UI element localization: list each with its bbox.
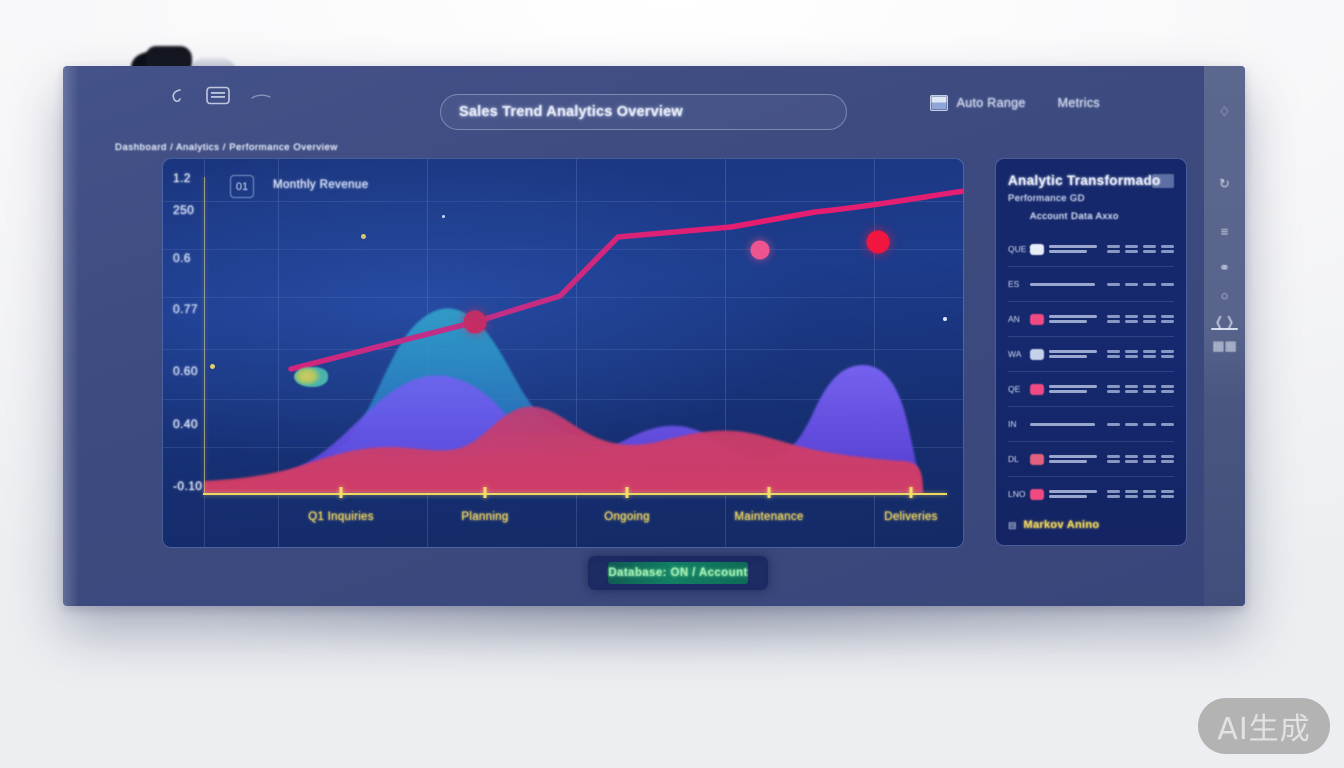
- toolbar-item-metrics[interactable]: Metrics: [1058, 94, 1100, 112]
- chart-gridlines: [163, 159, 963, 547]
- chart-panel: 01 Monthly Revenue 1.2 250 0.6 0.77 0.60…: [162, 158, 964, 548]
- side-panel-title: Analytic Transformado: [1008, 173, 1174, 188]
- y-tick-4: 0.60: [173, 364, 198, 378]
- row-cell: [1143, 455, 1156, 463]
- row-lead: AN: [1008, 314, 1025, 324]
- row-cell: [1161, 315, 1174, 323]
- status-cap-left: [591, 562, 605, 584]
- data-speck-3: [943, 317, 947, 321]
- breadcrumb: Dashboard / Analytics / Performance Over…: [115, 142, 338, 153]
- x-tick-label-2: Ongoing: [604, 511, 650, 523]
- row-cell: [1107, 455, 1120, 463]
- chart-y-axis: [204, 177, 205, 493]
- series-label: Monthly Revenue: [273, 179, 369, 191]
- row-bars: [1030, 423, 1102, 426]
- row-cell: [1107, 283, 1120, 286]
- side-panel-footer[interactable]: ▤ Markov Anino: [1008, 519, 1174, 531]
- y-tick-6: -0.10: [173, 479, 202, 493]
- data-speck-4: [442, 215, 445, 218]
- data-speck-1: [361, 234, 366, 239]
- ai-watermark: AI生成: [1198, 698, 1330, 754]
- filter-icon[interactable]: ≡: [1204, 224, 1245, 239]
- x-tick-label-0: Q1 Inquiries: [308, 511, 374, 523]
- more-options-icon[interactable]: [250, 89, 272, 107]
- dashboard-window: Sales Trend Analytics Overview Auto Rang…: [63, 66, 1245, 606]
- toolbar-item-metrics-label: Metrics: [1058, 96, 1100, 110]
- row-bars: [1049, 490, 1102, 498]
- x-tick-label-4: Deliveries: [884, 511, 938, 523]
- side-panel-footer-label: Markov Anino: [1024, 519, 1100, 531]
- refresh-icon[interactable]: ↻: [1204, 176, 1245, 192]
- list-view-icon[interactable]: [206, 86, 230, 110]
- row-lead: IN: [1008, 419, 1025, 429]
- row-swatch: [1030, 244, 1044, 255]
- top-toolbar: Sales Trend Analytics Overview Auto Rang…: [63, 66, 1245, 134]
- row-bars: [1049, 350, 1102, 358]
- chart-icon: ▤: [1008, 520, 1017, 531]
- toolbar-item-auto-range-label: Auto Range: [957, 96, 1026, 110]
- droplet-icon[interactable]: ♢: [1204, 104, 1245, 120]
- toolbar-left-icons: [168, 86, 272, 110]
- toolbar-right-items: Auto Range Metrics: [930, 94, 1100, 112]
- clock-icon[interactable]: ○: [1204, 288, 1245, 303]
- search-input-value: Sales Trend Analytics Overview: [459, 104, 683, 120]
- table-grid-icon: [930, 95, 948, 111]
- table-row[interactable]: QUE 1: [1008, 232, 1174, 267]
- row-cell: [1125, 423, 1138, 426]
- table-row[interactable]: LNO: [1008, 477, 1174, 511]
- back-arrow-icon[interactable]: [168, 87, 186, 110]
- row-cell: [1107, 490, 1120, 498]
- row-bars: [1030, 283, 1102, 286]
- row-lead: QUE 1: [1008, 244, 1025, 254]
- link-icon[interactable]: ⚭: [1204, 260, 1245, 276]
- peak-marker-3[interactable]: [867, 231, 890, 254]
- row-cell: [1161, 385, 1174, 393]
- row-swatch: [1030, 349, 1044, 360]
- row-lead: WA: [1008, 349, 1025, 359]
- row-bars: [1049, 245, 1102, 253]
- status-indicator[interactable]: Database: ON / Account: [608, 562, 748, 584]
- row-swatch: [1030, 454, 1044, 465]
- row-cell: [1125, 315, 1138, 323]
- data-speck-2: [210, 364, 215, 369]
- sprite-marker: [294, 367, 328, 387]
- row-cell: [1143, 423, 1156, 426]
- row-cell: [1125, 490, 1138, 498]
- row-cell: [1125, 385, 1138, 393]
- row-bars: [1049, 385, 1102, 393]
- y-tick-0: 1.2: [173, 171, 191, 185]
- row-cell: [1143, 245, 1156, 253]
- peak-marker-1[interactable]: [464, 311, 487, 334]
- y-tick-5: 0.40: [173, 417, 198, 431]
- toolbar-item-auto-range[interactable]: Auto Range: [930, 95, 1026, 111]
- row-cell: [1143, 490, 1156, 498]
- side-panel-rows: QUE 1 ES AN: [1008, 232, 1174, 511]
- x-tick-label-1: Planning: [461, 511, 508, 523]
- row-lead: DL: [1008, 454, 1025, 464]
- y-tick-2: 0.6: [173, 251, 191, 265]
- search-input[interactable]: Sales Trend Analytics Overview: [440, 94, 847, 130]
- status-text: Database: ON / Account: [608, 567, 747, 579]
- side-data-panel: Analytic Transformado Performance GD Acc…: [995, 158, 1187, 546]
- row-swatch: [1030, 489, 1044, 500]
- row-lead: LNO: [1008, 489, 1025, 499]
- row-cell: [1107, 245, 1120, 253]
- chart-plot: [163, 159, 963, 547]
- table-row[interactable]: DL: [1008, 442, 1174, 477]
- table-row[interactable]: ES: [1008, 267, 1174, 302]
- row-cell: [1161, 490, 1174, 498]
- row-cell: [1107, 385, 1120, 393]
- row-cell: [1161, 283, 1174, 286]
- row-swatch: [1030, 384, 1044, 395]
- table-row[interactable]: IN: [1008, 407, 1174, 442]
- table-row[interactable]: WA: [1008, 337, 1174, 372]
- row-cell: [1125, 350, 1138, 358]
- row-cell: [1143, 283, 1156, 286]
- peak-marker-2[interactable]: [751, 241, 770, 260]
- side-panel-subtitle: Performance GD: [1008, 193, 1174, 204]
- status-bar: Database: ON / Account: [588, 556, 768, 590]
- ai-watermark-text: AI生成: [1217, 704, 1310, 748]
- chart-x-axis: [203, 493, 947, 495]
- row-cell: [1161, 455, 1174, 463]
- row-lead: QE: [1008, 384, 1025, 394]
- row-cell: [1143, 385, 1156, 393]
- y-tick-3: 0.77: [173, 302, 198, 316]
- row-cell: [1125, 283, 1138, 286]
- series-badge: 01: [230, 175, 254, 198]
- x-tick-label-3: Maintenance: [734, 511, 803, 523]
- row-swatch: [1030, 314, 1044, 325]
- row-cell: [1143, 350, 1156, 358]
- row-cell: [1143, 315, 1156, 323]
- row-cell: [1107, 315, 1120, 323]
- side-panel-subtitle-2: Account Data Axxo: [1030, 211, 1174, 222]
- row-cell: [1161, 245, 1174, 253]
- y-tick-1: 250: [173, 203, 194, 217]
- row-cell: [1107, 350, 1120, 358]
- table-row[interactable]: QE: [1008, 372, 1174, 407]
- row-bars: [1049, 315, 1102, 323]
- row-cell: [1107, 423, 1120, 426]
- row-cell: [1161, 350, 1174, 358]
- row-cell: [1125, 455, 1138, 463]
- row-bars: [1049, 455, 1102, 463]
- table-row[interactable]: AN: [1008, 302, 1174, 337]
- status-cap-right: [751, 562, 765, 584]
- row-cell: [1161, 423, 1174, 426]
- row-cell: [1125, 245, 1138, 253]
- grid-icon[interactable]: ▦▦: [1204, 338, 1245, 354]
- right-icon-rail: ♢ ↻ ≡ ⚭ ○ ❬❭ ▦▦: [1204, 66, 1245, 606]
- row-lead: ES: [1008, 279, 1025, 289]
